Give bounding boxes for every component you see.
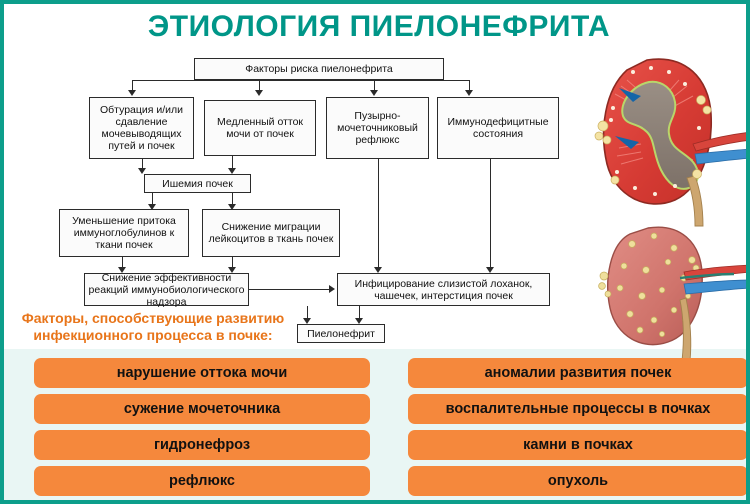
arrow-root-to-l1b — [255, 90, 263, 96]
kidney-abscesses-illustration — [596, 222, 750, 362]
flow-box-vesicoureteral-reflux: Пузырно-мочеточниковый рефлюкс — [326, 97, 429, 159]
arrow-root-to-l1d — [465, 90, 473, 96]
factors-caption: Факторы, способствующие развитию инфекци… — [8, 310, 298, 344]
factor-pill-kidney-development-anomalies[interactable]: аномалии развития почек — [408, 358, 748, 388]
factor-pill-reflux[interactable]: рефлюкс — [34, 466, 370, 496]
flow-box-slow-outflow: Медленный отток мочи от почек — [204, 100, 316, 156]
connector-immunodeficiency-long-down — [490, 159, 491, 269]
factor-pill-label: сужение мочеточника — [124, 401, 280, 417]
factor-pill-urine-outflow-disturbance[interactable]: нарушение оттока мочи — [34, 358, 370, 388]
factor-pill-ureter-narrowing[interactable]: сужение мочеточника — [34, 394, 370, 424]
flow-box-pyelonephritis-outcome: Пиелонефрит — [297, 324, 385, 343]
factor-pill-label: воспалительные процессы в почках — [446, 401, 711, 417]
connector-reflux-long-down — [378, 159, 379, 269]
flow-box-immunobiological-surveillance: Снижение эффективности реакций иммунобио… — [84, 273, 249, 306]
factor-pill-kidney-stones[interactable]: камни в почках — [408, 430, 748, 460]
factor-pill-hydronephrosis[interactable]: гидронефроз — [34, 430, 370, 460]
factor-pill-label: опухоль — [548, 473, 608, 489]
arrow-root-to-l1c — [370, 90, 378, 96]
flow-box-immunoglobulin-decrease: Уменьшение притока иммуноглобулинов к тк… — [59, 209, 189, 257]
kidney-cross-section-illustration — [589, 52, 750, 227]
factors-caption-line1: Факторы, способствующие развитию — [8, 310, 298, 327]
arrow-surveillance-to-infection — [329, 285, 335, 293]
connector-surveillance-to-infection — [249, 289, 329, 290]
factor-pill-label: аномалии развития почек — [485, 365, 672, 381]
infographic-page: ЭТИОЛОГИЯ ПИЕЛОНЕФРИТА — [0, 0, 750, 504]
factor-pill-label: нарушение оттока мочи — [117, 365, 288, 381]
factor-pill-label: рефлюкс — [169, 473, 235, 489]
factor-pill-label: камни в почках — [523, 437, 633, 453]
flow-box-obstruction: Обтурация и/или сдавление мочевыводящих … — [89, 97, 194, 159]
flow-box-ischemia: Ишемия почек — [144, 174, 251, 193]
factor-pill-label: гидронефроз — [154, 437, 250, 453]
factors-caption-line2: инфекционного процесса в почке: — [8, 327, 298, 344]
flow-box-immunodeficiency: Иммунодефицитные состояния — [437, 97, 559, 159]
factor-pill-tumor[interactable]: опухоль — [408, 466, 748, 496]
factor-pill-inflammatory-processes[interactable]: воспалительные процессы в почках — [408, 394, 748, 424]
flow-box-root: Факторы риска пиелонефрита — [194, 58, 444, 80]
connector-root-bus — [132, 80, 469, 81]
page-title: ЭТИОЛОГИЯ ПИЕЛОНЕФРИТА — [4, 10, 750, 44]
arrow-root-to-l1a — [128, 90, 136, 96]
flow-box-mucosal-infection: Инфицирование слизистой лоханок, чашечек… — [337, 273, 550, 306]
flow-box-leukocyte-migration-decrease: Снижение миграции лейкоцитов в ткань поч… — [202, 209, 340, 257]
